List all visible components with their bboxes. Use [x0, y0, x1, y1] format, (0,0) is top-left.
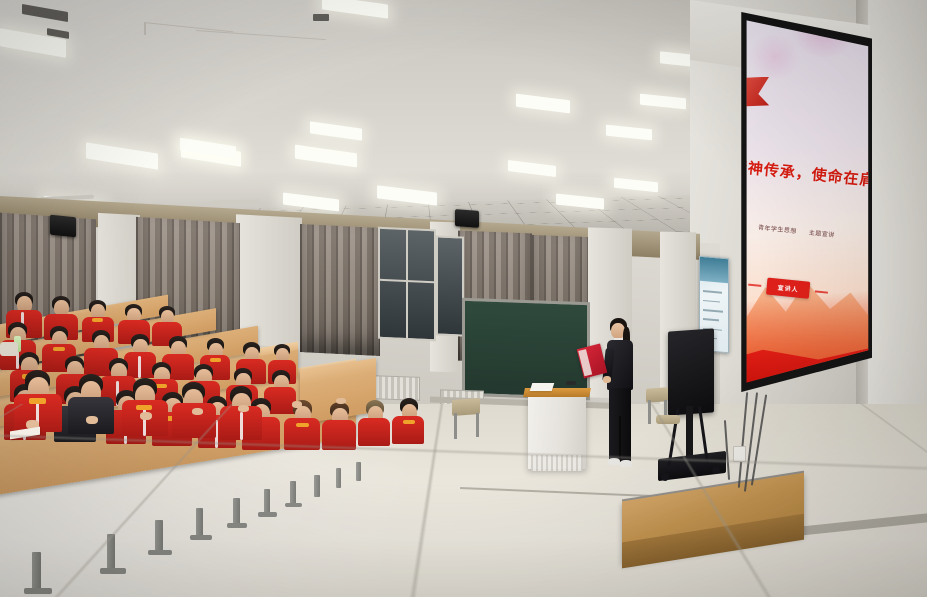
rolling-monitor-screen[interactable]	[668, 328, 714, 415]
student-uniform	[322, 420, 356, 450]
audience-student	[220, 386, 262, 440]
student-hand	[292, 401, 302, 408]
student-hand	[140, 412, 152, 420]
student-scarf	[136, 405, 152, 410]
slide-mountain-graphic	[720, 232, 872, 369]
student-hand	[86, 416, 98, 424]
audience-student	[122, 378, 168, 436]
slide-badge-dash-right	[814, 290, 827, 293]
student-hand	[238, 405, 249, 412]
notice-board-line	[703, 309, 723, 312]
wall-speaker	[455, 209, 479, 228]
desk-foot	[190, 535, 212, 540]
presenter-shoe	[620, 460, 632, 467]
side-chair-leg	[454, 413, 457, 439]
slide-cloud-swirl	[747, 35, 803, 79]
wall-display-bezel[interactable]: 精神传承，使命在肩 青年学生思想 主题宣讲 宣讲人 思政教育主题班会	[720, 12, 872, 392]
desk-foot	[148, 550, 172, 555]
wall-outlet[interactable]	[733, 446, 746, 462]
lectern-vent-grille	[531, 455, 583, 471]
presenter-leg-split	[619, 416, 621, 462]
rolling-monitor-caster	[712, 466, 720, 474]
presenter-hand	[603, 376, 611, 383]
desk-leg	[233, 498, 240, 526]
rolling-monitor-caster	[661, 473, 669, 481]
slide-subtitle-right: 主题宣讲	[809, 229, 836, 239]
hall-window	[436, 235, 464, 336]
ceiling-hook	[144, 23, 146, 35]
student-scarf	[210, 358, 221, 362]
student-scarf	[403, 420, 415, 424]
student-scarf	[29, 398, 46, 404]
hall-window	[378, 227, 436, 342]
lecture-hall-photo: 精神传承，使命在肩 青年学生思想 主题宣讲 宣讲人 思政教育主题班会	[0, 0, 927, 597]
desk-leg	[356, 462, 361, 481]
side-chair-leg	[648, 400, 651, 424]
slide-title: 精神传承，使命在肩	[731, 159, 871, 188]
notice-board-line	[703, 318, 719, 321]
ceiling-sensor	[313, 14, 329, 21]
wall-radiator	[372, 375, 420, 401]
slide-subtitle-left: 青年学生思想	[758, 224, 797, 235]
audience-student	[68, 374, 114, 434]
desk-leg	[314, 475, 320, 497]
desk-bag	[0, 342, 18, 356]
student-uniform	[358, 418, 390, 446]
desk-foot	[285, 503, 302, 507]
stool-seat[interactable]	[656, 415, 680, 424]
student-scarf	[296, 423, 309, 427]
student-scarf	[53, 347, 65, 351]
window-curtain	[300, 224, 380, 356]
audience-student	[392, 398, 424, 444]
student-uniform-stripe	[138, 356, 141, 378]
wall-speaker	[50, 215, 76, 238]
student-scarf	[92, 318, 103, 322]
notice-board-line	[703, 290, 723, 293]
audience-student	[358, 400, 390, 446]
student-hand	[336, 398, 346, 404]
desk-leg	[290, 481, 296, 505]
audience-student	[284, 400, 320, 450]
desk-leg	[32, 552, 41, 592]
student-hand	[192, 408, 203, 415]
desk-foot	[258, 512, 277, 517]
student-uniform-stripe	[240, 412, 243, 440]
desk-leg	[107, 534, 115, 572]
desk-foot	[100, 568, 126, 574]
slide-subtitle-spacer	[799, 228, 807, 236]
window-mullion	[406, 230, 408, 338]
notice-board-line	[703, 300, 720, 303]
lectern-papers	[530, 383, 555, 391]
slide-badge-dash-left	[749, 284, 762, 287]
lectern-mic	[566, 381, 576, 385]
desk-leg	[155, 520, 163, 554]
wall-display-screen[interactable]: 精神传承，使命在肩 青年学生思想 主题宣讲 宣讲人 思政教育主题班会	[720, 12, 872, 392]
presenter-figure	[596, 318, 642, 476]
notice-board-header	[700, 257, 728, 284]
slide-subtitle-group: 青年学生思想 主题宣讲	[726, 220, 866, 243]
presenter-shoe	[608, 458, 620, 465]
desk-foot	[227, 523, 247, 528]
desk-leg	[336, 468, 341, 488]
desk-foot	[24, 588, 52, 594]
audience-student	[322, 402, 356, 450]
side-chair-leg	[476, 413, 479, 437]
